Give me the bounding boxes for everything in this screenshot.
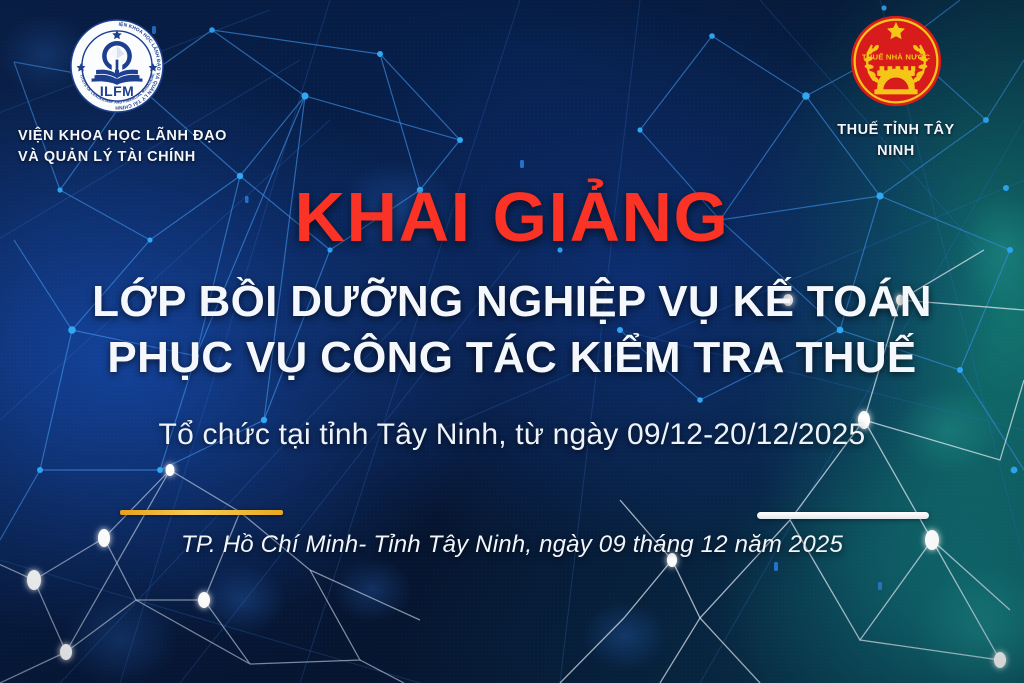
vietnam-tax-seal-icon: THUẾ NHÀ NƯỚC xyxy=(849,95,943,112)
tax-seal-text: THUẾ NHÀ NƯỚC xyxy=(862,52,931,62)
main-headline: KHAI GIẢNG xyxy=(0,182,1024,252)
right-org-name-line2: NINH xyxy=(786,141,1006,162)
white-rule xyxy=(757,512,929,519)
left-org-name-line2: VÀ QUẢN LÝ TÀI CHÍNH xyxy=(18,147,263,168)
event-banner: VIỆN KHOA HỌC LÃNH ĐẠO VÀ QUẢN LÝ TÀI CH… xyxy=(0,0,1024,683)
svg-text:ILFM: ILFM xyxy=(99,83,133,99)
course-title-line2: PHỤC VỤ CÔNG TÁC KIỂM TRA THUẾ xyxy=(0,330,1024,386)
right-organization-name: THUẾ TỈNH TÂY NINH xyxy=(786,120,1006,163)
course-title-line1: LỚP BỒI DƯỠNG NGHIỆP VỤ KẾ TOÁN xyxy=(0,274,1024,330)
left-organization-name: VIỆN KHOA HỌC LÃNH ĐẠO VÀ QUẢN LÝ TÀI CH… xyxy=(18,126,263,169)
right-org-name-line1: THUẾ TỈNH TÂY xyxy=(786,120,1006,141)
signature-line: TP. Hồ Chí Minh- Tỉnh Tây Ninh, ngày 09 … xyxy=(0,531,1024,559)
left-organization-block: VIỆN KHOA HỌC LÃNH ĐẠO VÀ QUẢN LÝ TÀI CH… xyxy=(18,18,263,169)
right-organization-block: THUẾ NHÀ NƯỚC THUẾ TỈNH TÂY NINH xyxy=(786,14,1006,163)
left-org-name-line1: VIỆN KHOA HỌC LÃNH ĐẠO xyxy=(18,126,263,147)
event-location-date: Tổ chức tại tỉnh Tây Ninh, từ ngày 09/12… xyxy=(0,417,1024,453)
ilfm-seal-wrapper: VIỆN KHOA HỌC LÃNH ĐẠO VÀ QUẢN LÝ TÀI CH… xyxy=(18,18,263,119)
headline-block: KHAI GIẢNG LỚP BỒI DƯỠNG NGHIỆP VỤ KẾ TO… xyxy=(0,182,1024,453)
ilfm-seal-icon: VIỆN KHOA HỌC LÃNH ĐẠO VÀ QUẢN LÝ TÀI CH… xyxy=(69,18,165,119)
gold-rule xyxy=(120,510,283,515)
